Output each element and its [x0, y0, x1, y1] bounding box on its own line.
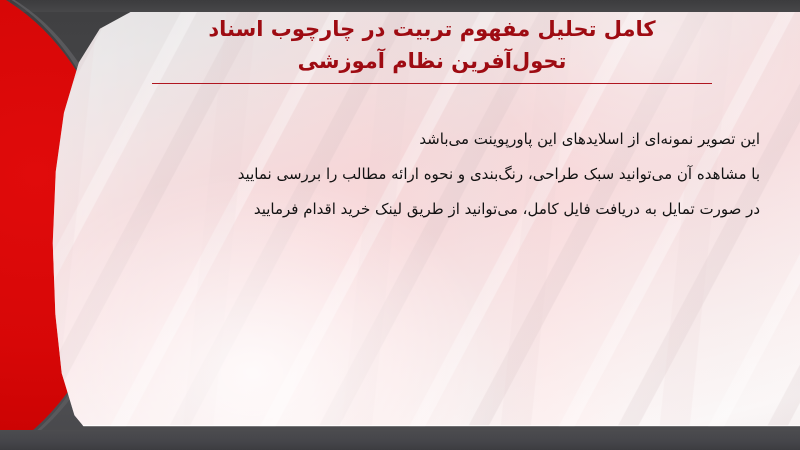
body-line-2: با مشاهده آن می‌توانید سبک طراحی، رنگ‌بن… — [100, 157, 760, 192]
frame-bottom-band — [0, 430, 800, 450]
slide-body-text: این تصویر نمونه‌ای از اسلایدهای این پاور… — [100, 122, 760, 227]
slide-text-content: کامل تحلیل مفهوم تربیت در چارچوب اسناد ت… — [52, 12, 800, 432]
presentation-slide: کامل تحلیل مفهوم تربیت در چارچوب اسناد ت… — [0, 0, 800, 450]
slide-title-line-1: کامل تحلیل مفهوم تربیت در چارچوب اسناد — [112, 14, 752, 46]
body-line-1: این تصویر نمونه‌ای از اسلایدهای این پاور… — [100, 122, 760, 157]
frame-top-band — [0, 0, 800, 12]
body-line-3: در صورت تمایل به دریافت فایل کامل، می‌تو… — [100, 192, 760, 227]
slide-title-line-2: تحول‌آفرین نظام آموزشی — [112, 46, 752, 78]
slide-title: کامل تحلیل مفهوم تربیت در چارچوب اسناد ت… — [112, 14, 752, 78]
title-underline — [152, 83, 712, 84]
